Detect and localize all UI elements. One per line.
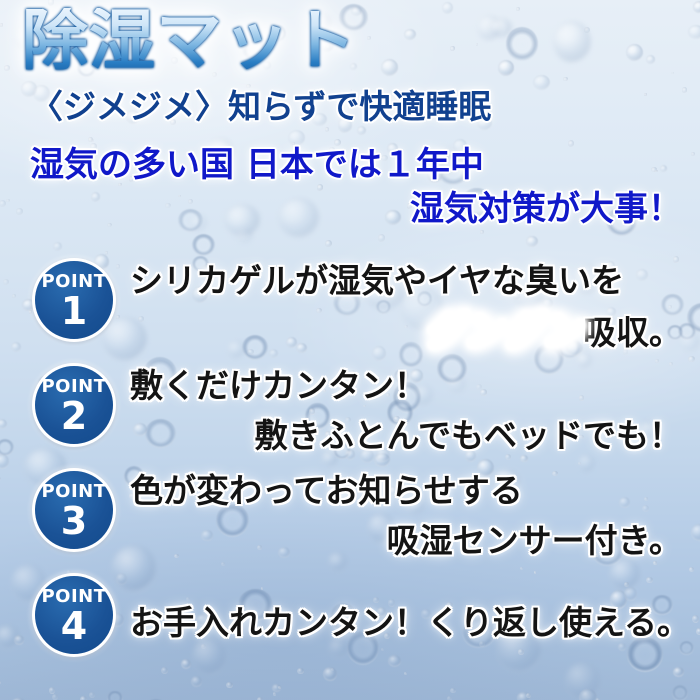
point-text-segment: 色が変わってお知らせする (130, 471, 523, 510)
point-row: POINT1シリカゲルが湿気やイヤな臭いをグングン吸収。 (0, 256, 700, 360)
water-droplet (691, 152, 696, 156)
point-badge-label: POINT (41, 378, 106, 396)
water-droplet (693, 1, 700, 13)
water-droplet (646, 55, 655, 64)
point-text-block: 敷くだけカンタン！敷きふとんでもベッドでも！ (130, 361, 690, 465)
point-badge-3: POINT3 (32, 468, 116, 552)
water-droplet (671, 72, 674, 75)
point-row: POINT2敷くだけカンタン！敷きふとんでもベッドでも！ (0, 361, 700, 465)
water-droplet (107, 691, 123, 700)
water-droplet (278, 198, 318, 238)
water-droplet (584, 27, 591, 34)
highlight-text: グングン (423, 309, 583, 353)
water-droplet (385, 210, 401, 225)
point-text-segment: お手入れカンタン！くり返し使える。 (130, 603, 690, 642)
point-line: 敷くだけカンタン！ (130, 361, 690, 411)
point-badge-2: POINT2 (32, 363, 116, 447)
water-droplet (644, 93, 647, 96)
water-droplet (235, 228, 254, 244)
water-droplet (357, 126, 366, 135)
point-line: グングン吸収。 (130, 306, 690, 358)
water-droplet (672, 685, 688, 700)
point-line: 吸湿センサー付き。 (130, 516, 690, 566)
water-droplet (498, 60, 514, 76)
point-text-segment: シリカゲルが湿気やイヤな臭いを (130, 261, 624, 300)
water-droplet (52, 694, 58, 700)
point-badge-label: POINT (41, 588, 106, 606)
point-text-block: お手入れカンタン！くり返し使える。 (130, 571, 690, 675)
water-droplet (533, 75, 550, 91)
point-badge-number: 2 (61, 397, 87, 435)
water-droplet (325, 127, 330, 132)
water-droplet (105, 251, 109, 255)
water-droplet (325, 240, 332, 247)
water-droplet (579, 689, 597, 700)
water-droplet (0, 23, 3, 27)
water-droplet (516, 7, 520, 11)
water-droplet (688, 25, 700, 40)
water-droplet (480, 230, 484, 234)
water-droplet (288, 130, 305, 146)
water-droplet (189, 214, 208, 232)
water-droplet (404, 29, 416, 40)
point-text-block: シリカゲルが湿気やイヤな臭いをグングン吸収。 (130, 256, 690, 360)
water-droplet (477, 15, 501, 41)
water-droplet (89, 692, 95, 698)
point-line: 敷きふとんでもベッドでも！ (130, 411, 690, 461)
water-droplet (682, 87, 688, 93)
tagline-line-1: 湿気の多い国 日本では１年中 (30, 148, 484, 182)
point-text-block: 色が変わってお知らせする吸湿センサー付き。 (130, 466, 690, 570)
water-droplet (506, 27, 538, 61)
water-droplet (91, 192, 100, 202)
point-line: シリカゲルが湿気やイヤな臭いを (130, 256, 690, 306)
water-droplet (226, 682, 232, 688)
point-row: POINT3色が変わってお知らせする吸湿センサー付き。 (0, 466, 700, 570)
water-droplet (273, 692, 277, 696)
point-text-segment: 吸湿センサー付き。 (387, 521, 682, 560)
water-droplet (188, 199, 194, 204)
water-droplet (191, 676, 202, 687)
point-line: お手入れカンタン！くり返し使える。 (130, 571, 690, 675)
water-droplet (450, 46, 455, 51)
water-droplet (178, 209, 204, 232)
point-text-segment: 敷きふとんでもベッドでも！ (255, 416, 682, 455)
water-droplet (517, 692, 530, 700)
water-droplet (16, 208, 23, 214)
water-droplet (278, 686, 281, 689)
water-droplet (651, 167, 658, 173)
water-droplet (91, 139, 94, 142)
water-droplet (88, 137, 93, 142)
water-droplet (4, 65, 11, 71)
water-droplet (626, 44, 643, 61)
water-droplet (178, 195, 181, 198)
point-line: 色が変わってお知らせする (130, 466, 690, 516)
point-badge-4: POINT4 (32, 573, 116, 657)
point-badge-number: 3 (61, 502, 87, 540)
water-droplet (272, 684, 281, 692)
water-droplet (654, 170, 657, 173)
water-droplet (381, 59, 399, 76)
water-droplet (447, 696, 451, 700)
water-droplet (378, 234, 385, 242)
subtitle: 〈ジメジメ〉知らずで快適睡眠 (30, 90, 491, 123)
point-badge-1: POINT1 (32, 258, 116, 342)
point-text-segment: 吸収。 (583, 313, 682, 352)
water-droplet (660, 165, 668, 172)
water-droplet (317, 184, 323, 190)
dehumidifier-mat-advertisement: 除湿マット 〈ジメジメ〉知らずで快適睡眠 湿気の多い国 日本では１年中 湿気対策… (0, 0, 700, 700)
water-droplet (192, 234, 216, 257)
water-droplet (489, 18, 512, 38)
water-droplet (107, 223, 112, 228)
water-droplet (6, 199, 10, 202)
water-droplet (553, 21, 591, 63)
point-badge-number: 1 (61, 292, 87, 330)
water-droplet (165, 203, 171, 209)
water-droplet (224, 204, 260, 237)
water-droplet (0, 681, 1, 684)
point-badge-label: POINT (41, 483, 106, 501)
water-droplet (563, 77, 568, 82)
water-droplet (367, 36, 371, 40)
water-droplet (526, 236, 537, 247)
point-badge-number: 4 (61, 607, 87, 645)
water-droplet (568, 140, 574, 147)
water-droplet (526, 693, 532, 698)
water-droplet (80, 696, 86, 700)
water-droplet (476, 43, 479, 46)
water-droplet (53, 242, 63, 252)
point-text-segment: 敷くだけカンタン！ (130, 366, 427, 405)
water-droplet (442, 2, 453, 14)
water-droplet (450, 688, 456, 694)
page-title: 除湿マット (22, 8, 357, 74)
point-badge-label: POINT (41, 273, 106, 291)
point-row: POINT4お手入れカンタン！くり返し使える。 (0, 571, 700, 675)
water-droplet (0, 200, 6, 207)
tagline-line-2: 湿気対策が大事！ (410, 192, 682, 226)
water-droplet (49, 687, 56, 694)
